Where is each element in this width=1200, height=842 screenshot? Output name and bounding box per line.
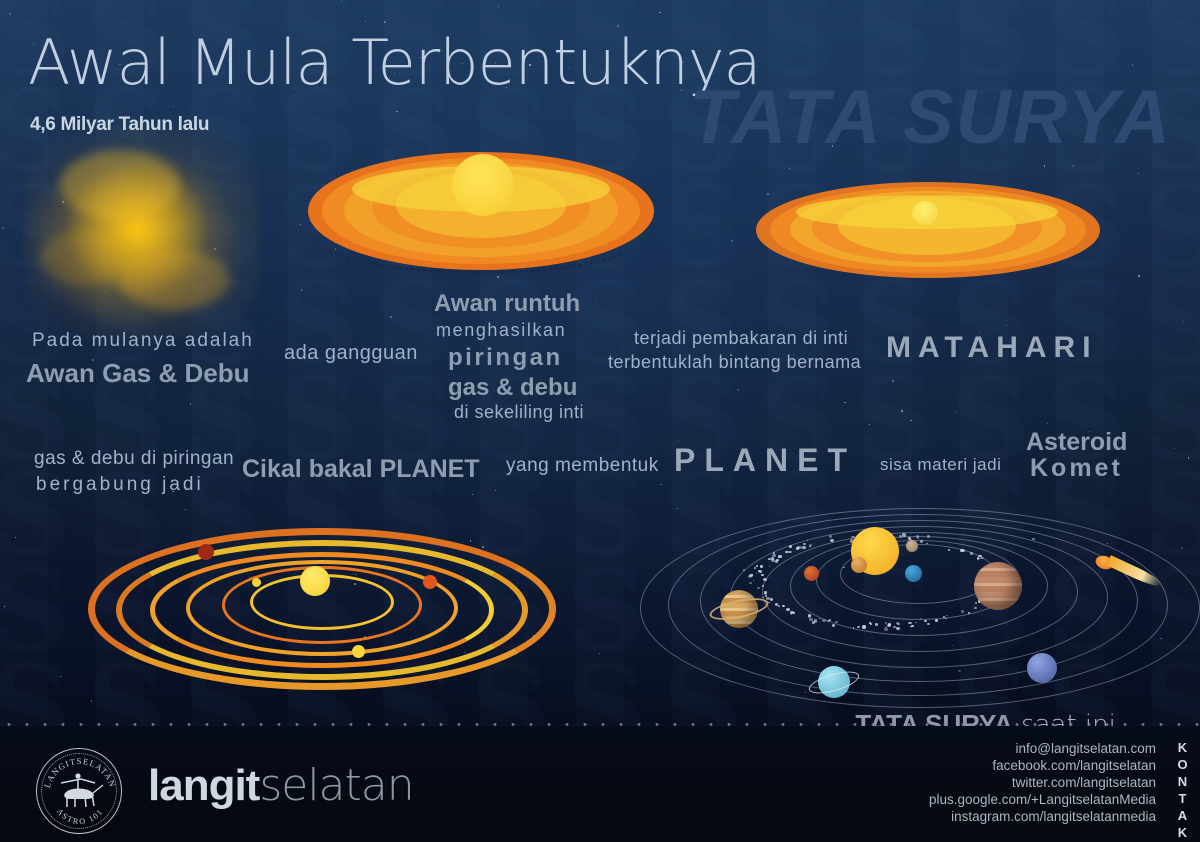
caption-collapse-2: menghasilkan [436,320,566,341]
seal-bottom-text: ASTRO 101 [55,807,105,826]
caption-collapse-1: Awan runtuh [434,290,580,318]
caption-cloud-bold: Awan Gas & Debu [26,358,249,389]
caption-collapse-4: gas & debu [448,374,577,402]
headline-tata-surya: TATA SURYA [689,74,1172,161]
infographic-canvas: SSSSSSSSSSSSSSSSSSSSSSSSSSSSSSSSSSSSSSSS… [0,0,1200,842]
caption-forming: yang membentuk [506,455,659,477]
caption-accretion-2: bergabung jadi [36,474,204,496]
mercury-body [906,540,918,552]
caption-star-1: terjadi pembakaran di inti [634,328,848,349]
jupiter-body [974,562,1022,610]
protoplanet-orange [423,575,437,589]
seal-top-text: LANGITSELATAN [42,756,118,789]
contact-list: info@langitselatan.comfacebook.com/langi… [929,740,1156,825]
contact-line-3[interactable]: plus.google.com/+LangitselatanMedia [929,791,1156,808]
svg-text:ASTRO 101: ASTRO 101 [55,807,105,826]
caption-leftover: sisa materi jadi [880,455,1001,475]
brand-wordmark: langitselatan [148,760,414,811]
protoplanet-red [198,544,214,560]
caption-matahari: MATAHARI [886,331,1098,365]
contact-line-2[interactable]: twitter.com/langitselatan [929,774,1156,791]
caption-komet: Komet [1030,454,1123,483]
svg-text:LANGITSELATAN: LANGITSELATAN [42,756,118,789]
brand-light: selatan [259,760,413,811]
page-title: Awal Mula Terbentuknya [28,26,761,99]
caption-collapse-3: piringan [448,344,563,372]
contact-line-0[interactable]: info@langitselatan.com [929,740,1156,757]
protoplanet-small [252,578,261,587]
saturn-body [710,586,768,632]
caption-star-2: terbentuklah bintang bernama [608,352,861,373]
brand-bold: langit [148,761,259,810]
caption-planet: PLANET [674,442,856,479]
caption-cloud-light: Pada mulanya adalah [32,330,254,352]
earth-body [905,565,922,582]
centaur-archer-icon [61,773,103,807]
langitselatan-seal-logo: LANGITSELATAN ASTRO 101 [36,748,122,834]
caption-disturbance: ada gangguan [284,342,418,365]
kontak-label: KONTAK [1168,740,1190,842]
venus-body [851,557,867,573]
caption-asteroid: Asteroid [1026,428,1127,457]
contact-line-4[interactable]: instagram.com/langitselatanmedia [929,808,1156,825]
caption-protoplanet: Cikal bakal PLANET [242,455,480,484]
caption-accretion-1: gas & debu di piringan [34,448,234,470]
caption-collapse-5: di sekeliling inti [454,402,584,423]
contact-line-1[interactable]: facebook.com/langitselatan [929,757,1156,774]
protoplanet-yellow [352,645,365,658]
mars-body [804,566,819,581]
